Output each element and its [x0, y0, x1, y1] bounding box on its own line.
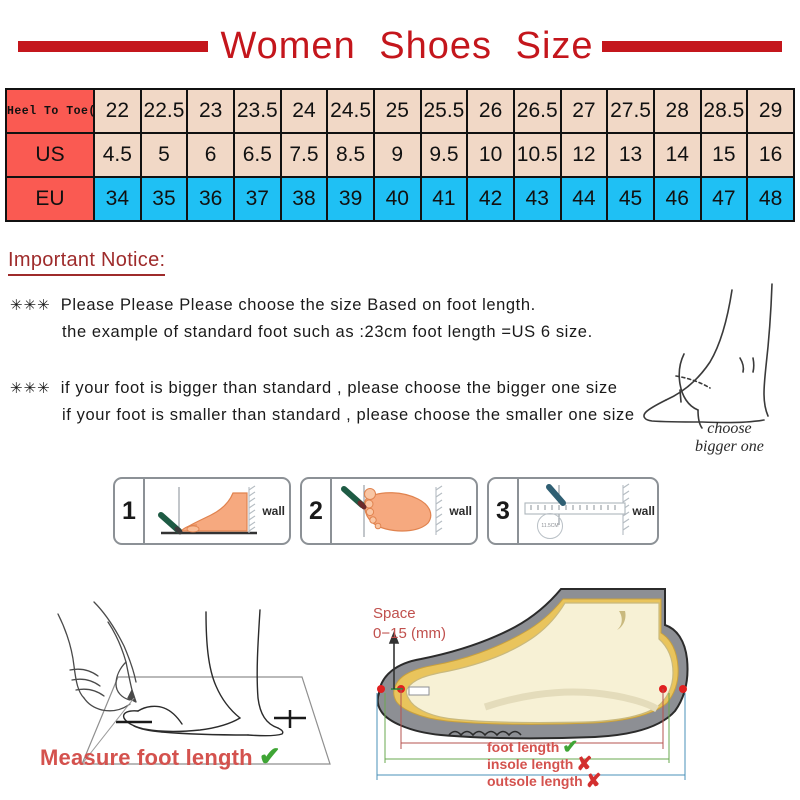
step-art-foot-top: wall: [332, 479, 476, 543]
title-bar-right: [602, 41, 782, 52]
step-number-1: 1: [115, 479, 145, 543]
step-number-3: 3: [489, 479, 519, 543]
notice-block-1: ✳✳✳Please Please Please choose the size …: [10, 292, 593, 346]
notice-line-1: ✳✳✳Please Please Please choose the size …: [10, 292, 593, 319]
size-cell: 25.5: [421, 89, 468, 133]
step-box-3: 3: [487, 477, 659, 545]
step-box-1: 1: [113, 477, 291, 545]
notice-line-3: ✳✳✳if your foot is bigger than standard …: [10, 375, 635, 402]
size-cell: 24: [281, 89, 328, 133]
size-cell: 29: [747, 89, 794, 133]
size-conversion-table: Heel To Toe(cm)2222.52323.52424.52525.52…: [5, 88, 795, 222]
size-cell: 9: [374, 133, 421, 177]
size-cell: 40: [374, 177, 421, 221]
measurement-label-row: outsole length✘: [487, 773, 602, 790]
size-cell: 26.5: [514, 89, 561, 133]
page-title: Women Shoes Size: [0, 22, 800, 70]
table-row: Heel To Toe(cm)2222.52323.52424.52525.52…: [6, 89, 794, 133]
wall-label-2: wall: [449, 504, 472, 518]
space-dimension-label: Space 0−15 (mm): [373, 604, 446, 644]
table-row: EU343536373839404142434445464748: [6, 177, 794, 221]
size-cell: 13: [607, 133, 654, 177]
size-cell: 45: [607, 177, 654, 221]
asterisk-icon: ✳✳✳: [10, 297, 51, 314]
measurement-steps: 1: [113, 477, 659, 545]
size-cell: 23.5: [234, 89, 281, 133]
measurement-label-text: outsole length: [487, 773, 583, 790]
size-cell: 26: [467, 89, 514, 133]
title-word-women: Women: [220, 25, 355, 67]
size-cell: 25: [374, 89, 421, 133]
ruler-badge: 11.5CM: [537, 513, 563, 539]
measurement-label-row: insole length✘: [487, 756, 602, 773]
row-label-cell: Heel To Toe(cm): [6, 89, 94, 133]
size-cell: 41: [421, 177, 468, 221]
caption-line-1: choose: [695, 420, 764, 438]
wall-label-1: wall: [262, 504, 285, 518]
size-cell: 44: [561, 177, 608, 221]
asterisk-icon: ✳✳✳: [10, 380, 51, 397]
measurement-label-text: insole length: [487, 756, 573, 773]
size-cell: 28.5: [701, 89, 748, 133]
checkmark-icon: ✔: [259, 741, 281, 771]
row-label-cell: US: [6, 133, 94, 177]
size-cell: 28: [654, 89, 701, 133]
size-cell: 27.5: [607, 89, 654, 133]
size-cell: 5: [141, 133, 188, 177]
size-chart-page: Women Shoes Size Heel To Toe(cm)2222.523…: [0, 0, 800, 800]
title-bar-left: [18, 41, 208, 52]
size-cell: 14: [654, 133, 701, 177]
step-box-2: 2: [300, 477, 478, 545]
size-cell: 39: [327, 177, 374, 221]
notice-text-3: if your foot is bigger than standard , p…: [61, 379, 618, 397]
foot-sketch-caption: choose bigger one: [695, 420, 764, 456]
size-cell: 16: [747, 133, 794, 177]
size-cell: 4.5: [94, 133, 141, 177]
size-cell: 6.5: [234, 133, 281, 177]
size-cell: 43: [514, 177, 561, 221]
size-cell: 22.5: [141, 89, 188, 133]
size-cell: 10: [467, 133, 514, 177]
page-title-text: Women Shoes Size: [214, 25, 599, 68]
size-cell: 10.5: [514, 133, 561, 177]
size-cell: 37: [234, 177, 281, 221]
size-cell: 27: [561, 89, 608, 133]
measure-caption-text: Measure foot length: [40, 745, 253, 770]
size-cell: 48: [747, 177, 794, 221]
step-art-foot-side: wall: [145, 479, 289, 543]
measurement-label-text: foot length: [487, 739, 559, 756]
title-word-size: Size: [516, 25, 594, 67]
space-label-line-1: Space: [373, 604, 446, 624]
notice-text-1: Please Please Please choose the size Bas…: [61, 296, 536, 314]
size-cell: 47: [701, 177, 748, 221]
measure-foot-caption: Measure foot length✔: [40, 741, 281, 772]
step-number-2: 2: [302, 479, 332, 543]
size-cell: 7.5: [281, 133, 328, 177]
notice-line-4: if your foot is smaller than standard , …: [10, 402, 635, 429]
size-cell: 35: [141, 177, 188, 221]
size-cell: 22: [94, 89, 141, 133]
size-cell: 12: [561, 133, 608, 177]
size-cell: 36: [187, 177, 234, 221]
length-measurement-labels: foot length✔insole length✘outsole length…: [487, 739, 602, 790]
title-word-shoes: Shoes: [379, 25, 492, 67]
size-cell: 42: [467, 177, 514, 221]
notice-line-2: the example of standard foot such as :23…: [10, 319, 593, 346]
notice-block-2: ✳✳✳if your foot is bigger than standard …: [10, 375, 635, 429]
cross-icon: ✘: [586, 773, 602, 790]
size-cell: 6: [187, 133, 234, 177]
row-label-cell: EU: [6, 177, 94, 221]
size-cell: 15: [701, 133, 748, 177]
table-row: US4.5566.57.58.599.51010.51213141516: [6, 133, 794, 177]
size-cell: 34: [94, 177, 141, 221]
size-cell: 24.5: [327, 89, 374, 133]
size-cell: 9.5: [421, 133, 468, 177]
size-cell: 8.5: [327, 133, 374, 177]
size-cell: 38: [281, 177, 328, 221]
size-cell: 23: [187, 89, 234, 133]
space-label-line-2: 0−15 (mm): [373, 624, 446, 644]
step-art-ruler: 11.5CM wall: [519, 479, 659, 543]
important-notice-heading: Important Notice:: [8, 249, 165, 276]
wall-label-3: wall: [632, 504, 655, 518]
caption-line-2: bigger one: [695, 438, 764, 456]
size-cell: 46: [654, 177, 701, 221]
